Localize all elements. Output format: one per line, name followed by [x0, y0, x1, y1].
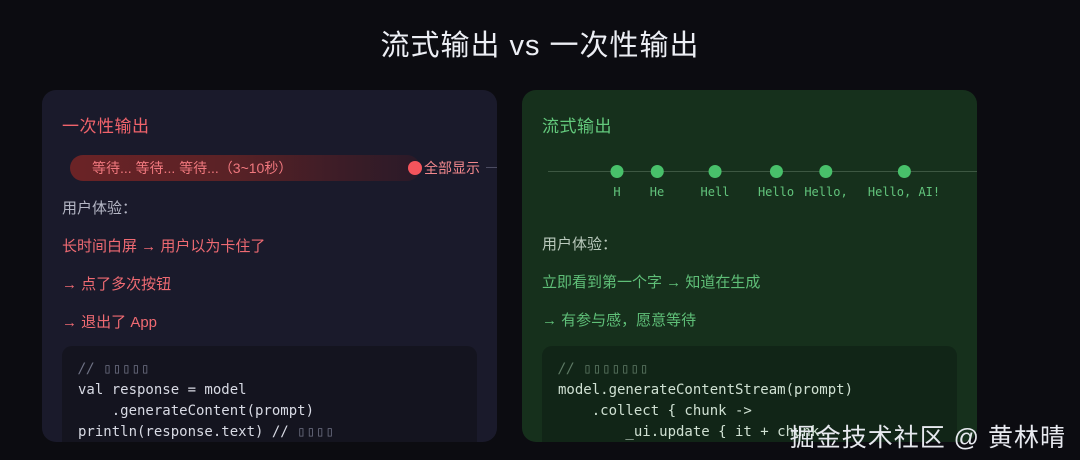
panel-streaming-output: 流式输出 H He Hell Hello Hello, — [522, 90, 977, 442]
code-line: // ▯▯▯▯▯▯▯ — [558, 359, 941, 380]
wait-progress-bar: 等待... 等待... 等待...（3~10秒） — [70, 155, 420, 181]
wait-progress-label: 等待... 等待... 等待...（3~10秒） — [92, 158, 292, 178]
stream-step: H — [611, 159, 624, 199]
code-line: println(response.text) // ▯▯▯▯ — [78, 422, 461, 442]
code-line: .collect { chunk -> — [558, 401, 941, 422]
stream-dot-icon — [611, 165, 624, 178]
stream-step-label: He — [650, 185, 664, 199]
left-ux-line-1: 长时间白屏 → 用户以为卡住了 — [62, 235, 477, 256]
stream-step: Hell — [701, 159, 730, 199]
stream-step-label: Hell — [701, 185, 730, 199]
panel-oneshot-output: 一次性输出 等待... 等待... 等待...（3~10秒） 全部显示 用户体验… — [42, 90, 497, 442]
stream-step: He — [650, 159, 664, 199]
code-line: val response = model — [78, 380, 461, 401]
right-code-block: // ▯▯▯▯▯▯▯ model.generateContentStream(p… — [542, 346, 957, 442]
right-ux-heading: 用户体验： — [542, 233, 957, 254]
left-code-block: // ▯▯▯▯▯ val response = model .generateC… — [62, 346, 477, 442]
code-comment-cjk-tofu: ▯▯▯▯▯ — [103, 361, 150, 377]
burst-output-dot-icon — [408, 161, 422, 175]
stream-step: Hello, — [804, 159, 847, 199]
stream-step: Hello — [758, 159, 794, 199]
code-line: model.generateContentStream(prompt) — [558, 380, 941, 401]
right-ux-line-1: 立即看到第一个字 → 知道在生成 — [542, 271, 957, 292]
code-line: .generateContent(prompt) — [78, 401, 461, 422]
code-line: _ui.update { it + chunk. — [558, 422, 941, 442]
stream-dot-icon — [650, 165, 663, 178]
right-ux-line-2: → 有参与感，愿意等待 — [542, 309, 957, 330]
stream-step: Hello, AI! — [868, 159, 940, 199]
timeline-tail-line — [486, 167, 497, 168]
code-comment-cjk-tofu: ▯▯▯▯ — [297, 424, 335, 440]
wait-progress-row: 等待... 等待... 等待...（3~10秒） 全部显示 — [62, 155, 477, 181]
stream-step-label: Hello, — [804, 185, 847, 199]
stream-step-label: Hello, AI! — [868, 185, 940, 199]
stream-dot-icon — [898, 165, 911, 178]
burst-output-label: 全部显示 — [424, 158, 480, 178]
slide-canvas: 流式输出 vs 一次性输出 一次性输出 等待... 等待... 等待...（3~… — [0, 0, 1080, 460]
page-title: 流式输出 vs 一次性输出 — [0, 22, 1080, 64]
code-comment: // — [558, 361, 583, 377]
left-ux-heading: 用户体验： — [62, 197, 477, 218]
code-text: println(response.text) // — [78, 424, 297, 440]
stream-dot-icon — [770, 165, 783, 178]
code-comment: // — [78, 361, 103, 377]
panel-left-title: 一次性输出 — [62, 112, 477, 137]
panel-right-title: 流式输出 — [542, 112, 957, 137]
left-ux-line-2: → 点了多次按钮 — [62, 273, 477, 294]
code-comment-cjk-tofu: ▯▯▯▯▯▯▯ — [583, 361, 649, 377]
left-ux-line-3: → 退出了 App — [62, 311, 477, 332]
stream-timeline: H He Hell Hello Hello, Hello, AI! — [542, 159, 957, 217]
stream-dot-icon — [819, 165, 832, 178]
stream-step-label: Hello — [758, 185, 794, 199]
code-line: // ▯▯▯▯▯ — [78, 359, 461, 380]
stream-step-label: H — [611, 185, 624, 199]
stream-dot-icon — [709, 165, 722, 178]
